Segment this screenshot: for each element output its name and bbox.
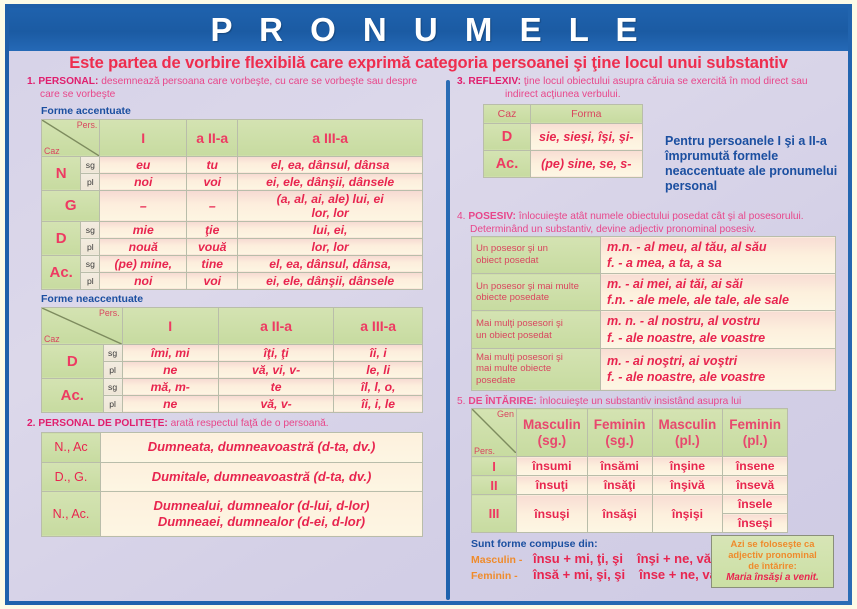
table-row: N., AcDumneata, dumneavoastră (d-ta, dv.…	[42, 433, 423, 462]
table-reflexiv: CazFormaDsie, sieşi, îşi, şi-Ac.(pe) sin…	[483, 104, 643, 178]
table-posesiv: Un posesor şi unobiect posedatm.n. - al …	[471, 236, 836, 391]
cell-0-pl-1: vă, vi, v-	[218, 361, 333, 378]
cell-3-sg-2: el, ea, dânsul, dânsa,	[238, 255, 423, 272]
intarire-pers-0: I	[472, 457, 517, 476]
reflexiv-header-forma: Forma	[531, 104, 643, 123]
number-label-pl: pl	[103, 395, 122, 412]
section-posesiv-desc: înlocuieşte atât numele obiectului posed…	[519, 211, 804, 222]
corner-label-caz: Caz	[44, 334, 60, 344]
intarire-cell-2-0: însuşi	[517, 495, 588, 533]
intarire-cell-0-3: însene	[723, 457, 788, 476]
section-politete-heading: 2. PERSONAL DE POLITEŢE: arată respectul…	[27, 418, 437, 431]
cell-1-sg-0: mă, m-	[122, 378, 218, 395]
case-label-cell: D	[42, 221, 81, 255]
person-header-3: a III-a	[238, 119, 423, 156]
number-label-sg: sg	[103, 378, 122, 395]
section-posesiv-desc2: Determinând un substantiv, devine adject…	[457, 223, 842, 236]
section-reflexiv-desc: ţine locul obiectului asupra căruia se e…	[524, 76, 808, 87]
note-line-2: adjectiv pronominal	[714, 549, 831, 560]
table-forme-accentuate: Pers.CazIa II-aa III-aNsgeutuel, ea, dân…	[41, 119, 423, 290]
person-header-3: a III-a	[334, 307, 423, 344]
page-title: P R O N U M E L E	[211, 13, 647, 46]
corner-label-pers: Pers.	[77, 120, 98, 130]
table-row: Ac.sg(pe) mine,tineel, ea, dânsul, dânsa…	[42, 255, 423, 272]
cell-1-pl-0: ne	[122, 395, 218, 412]
table-header-row: GenPers.Masculin(sg.)Feminin(sg.)Masculi…	[472, 409, 788, 457]
corner-label-pers: Pers.	[99, 308, 120, 318]
table-row: Dsie, sieşi, îşi, şi-	[484, 123, 643, 150]
poster-subtitle: Este partea de vorbire flexibilă care ex…	[9, 54, 848, 73]
cell-0-sg-2: îi, i	[334, 344, 423, 361]
section-reflexiv-desc2: indirect acţiunea verbului.	[457, 89, 842, 102]
intarire-cell-1-1: însăţi	[587, 476, 652, 495]
intarire-cell-1-2: înşivă	[652, 476, 723, 495]
table-intarire: GenPers.Masculin(sg.)Feminin(sg.)Masculi…	[471, 408, 788, 533]
forme-accentuate-label: Forme accentuate	[41, 105, 437, 117]
table-row: plnouăvouălor, lor	[42, 238, 423, 255]
intarire-cell-2-3b: înseşi	[723, 514, 788, 533]
cell-0-pl-1: voi	[187, 173, 238, 190]
case-label-cell: Ac.	[42, 255, 81, 289]
intarire-cell-0-1: însămi	[587, 457, 652, 476]
reflexiv-forma-0: sie, sieşi, îşi, şi-	[531, 123, 643, 150]
table-header-row: CazForma	[484, 104, 643, 123]
compose-block: Sunt forme compuse din: Masculin -însu +…	[471, 538, 842, 582]
person-header-1: I	[122, 307, 218, 344]
poster-body: P R O N U M E L E Este partea de vorbire…	[9, 8, 848, 601]
corner-label-gen: Gen	[497, 409, 514, 419]
table-row: IIînsuţiînsăţiînşivăînsevă	[472, 476, 788, 495]
cell-3-pl-0: noi	[100, 272, 187, 289]
cell-0-sg-0: îmi, mi	[122, 344, 218, 361]
poster-title-bar: P R O N U M E L E	[9, 8, 848, 51]
posesiv-forms-0: m.n. - al meu, al tău, al săuf. - a mea,…	[601, 237, 836, 274]
section-reflexiv-name: REFLEXIV:	[468, 76, 521, 87]
forme-neaccentuate-label: Forme neaccentuate	[41, 293, 437, 305]
number-label-pl: pl	[103, 361, 122, 378]
number-label-sg: sg	[81, 221, 100, 238]
corner-header-cell: GenPers.	[472, 409, 517, 457]
number-label-sg: sg	[81, 255, 100, 272]
table-row: Ac.sgmă, m-teîl, l, o,	[42, 378, 423, 395]
polite-case-1: D., G.	[42, 462, 101, 491]
corner-label-pers: Pers.	[474, 446, 495, 456]
section-intarire-name: DE ÎNTĂRIRE:	[468, 396, 536, 407]
section-posesiv-name: POSESIV:	[468, 211, 516, 222]
compose-forms-0: însu + mi, ţi, şiînşi + ne, vă, şi	[533, 551, 729, 566]
cell-2-sg-0: mie	[100, 221, 187, 238]
intarire-pers-2: III	[472, 495, 517, 533]
posesiv-forms-2: m. n. - al nostru, al vostruf. - ale noa…	[601, 311, 836, 348]
section-posesiv-heading: 4. POSESIV: înlocuieşte atât numele obie…	[457, 210, 842, 237]
note-example: Maria însăşi a venit.	[714, 572, 831, 584]
section-politete-desc: arată respectul faţă de o persoană.	[171, 418, 329, 429]
table-forme-neaccentuate: Pers.CazIa II-aa III-aDsgîmi, miîţi, ţiî…	[41, 307, 423, 413]
corner-header-cell: Pers.Caz	[42, 119, 100, 156]
number-label-sg: sg	[81, 156, 100, 173]
note-line-1: Azi se foloseşte ca	[714, 538, 831, 549]
table-header-row: Pers.CazIa II-aa III-a	[42, 307, 423, 344]
reflexiv-header-caz: Caz	[484, 104, 531, 123]
reflexiv-case-1: Ac.	[484, 150, 531, 177]
cell-1-pl-2: îi, i, le	[334, 395, 423, 412]
intarire-pers-1: II	[472, 476, 517, 495]
posesiv-label-3: Mai mulţi posesori şimai multe obiectepo…	[472, 348, 601, 390]
table-row: Un posesor şi mai multeobiecte posedatem…	[472, 274, 836, 311]
intarire-cell-1-0: însuţi	[517, 476, 588, 495]
table-row: Ac.(pe) sine, se, s-	[484, 150, 643, 177]
case-label-cell: D	[42, 344, 104, 378]
section-personal-number: 1.	[27, 76, 36, 87]
table-row: Un posesor şi unobiect posedatm.n. - al …	[472, 237, 836, 274]
reflexiv-note: Pentru persoanele I şi a II-a împrumută …	[665, 134, 845, 194]
cell-0-pl-2: ei, ele, dânşii, dânsele	[238, 173, 423, 190]
section-reflexiv-number: 3.	[457, 76, 466, 87]
table-row: Mai mulţi posesori şimai multe obiectepo…	[472, 348, 836, 390]
section-politete-number: 2.	[27, 418, 36, 429]
posesiv-forms-3: m. - ai noştri, ai voştrif. - ale noastr…	[601, 348, 836, 390]
cell-3-pl-2: ei, ele, dânşii, dânsele	[238, 272, 423, 289]
cell-0-sg-1: tu	[187, 156, 238, 173]
table-politete: N., AcDumneata, dumneavoastră (d-ta, dv.…	[41, 432, 423, 537]
table-row: N., Ac.Dumnealui, dumnealor (d-lui, d-lo…	[42, 491, 423, 537]
table-header-row: Pers.CazIa II-aa III-a	[42, 119, 423, 156]
intarire-header-2: Masculin(pl.)	[652, 409, 723, 457]
right-column: 3. REFLEXIV: ţine locul obiectului asupr…	[457, 76, 842, 582]
section-posesiv-number: 4.	[457, 211, 466, 222]
polite-forms-1: Dumitale, dumneavoastră (d-ta, dv.)	[101, 462, 423, 491]
intarire-header-3: Feminin(pl.)	[723, 409, 788, 457]
corner-label-caz: Caz	[44, 146, 60, 156]
reflexiv-block: CazFormaDsie, sieşi, îşi, şi-Ac.(pe) sin…	[457, 104, 842, 208]
cell-3-sg-1: tine	[187, 255, 238, 272]
cell-0-pl-0: noi	[100, 173, 187, 190]
cell-0-sg-1: îţi, ţi	[218, 344, 333, 361]
table-row: Mai mulţi posesori şiun obiect posedatm.…	[472, 311, 836, 348]
section-politete-name: PERSONAL DE POLITEŢE:	[38, 418, 167, 429]
polite-forms-0: Dumneata, dumneavoastră (d-ta, dv.)	[101, 433, 423, 462]
section-personal-name: PERSONAL:	[38, 76, 98, 87]
posesiv-label-1: Un posesor şi mai multeobiecte posedate	[472, 274, 601, 311]
number-label-pl: pl	[81, 238, 100, 255]
cell-1-sg-1: te	[218, 378, 333, 395]
case-label-cell: N	[42, 156, 81, 190]
note-line-3: de întărire:	[714, 560, 831, 571]
cell-0-sg-0: eu	[100, 156, 187, 173]
cell-1-0: –	[100, 190, 187, 221]
intarire-cell-0-2: înşine	[652, 457, 723, 476]
poster-frame: P R O N U M E L E Este partea de vorbire…	[5, 4, 852, 605]
intarire-cell-2-1: însăşi	[587, 495, 652, 533]
reflexiv-forma-1: (pe) sine, se, s-	[531, 150, 643, 177]
compose-gender-1: Feminin -	[471, 570, 533, 582]
intarire-header-1: Feminin(sg.)	[587, 409, 652, 457]
person-header-2: a II-a	[187, 119, 238, 156]
section-personal-heading: 1. PERSONAL: desemnează persoana care vo…	[27, 76, 437, 102]
cell-2-pl-2: lor, lor	[238, 238, 423, 255]
cell-2-pl-1: vouă	[187, 238, 238, 255]
section-intarire-desc: înlocuieşte un substantiv insistând asup…	[540, 396, 742, 407]
table-row: Dsgîmi, miîţi, ţiîi, i	[42, 344, 423, 361]
table-row: IIIînsuşiînsăşiînşişiînsele	[472, 495, 788, 514]
compose-gender-0: Masculin -	[471, 554, 533, 566]
posesiv-label-2: Mai mulţi posesori şiun obiect posedat	[472, 311, 601, 348]
cell-0-pl-0: ne	[122, 361, 218, 378]
section-personal-desc2: care se vorbeşte	[27, 89, 437, 102]
cell-1-1: –	[187, 190, 238, 221]
cell-1-pl-1: vă, v-	[218, 395, 333, 412]
column-divider	[446, 80, 450, 600]
person-header-1: I	[100, 119, 187, 156]
cell-1-2: (a, al, ai, ale) lui, eilor, lor	[238, 190, 423, 221]
polite-forms-2: Dumnealui, dumnealor (d-lui, d-lor)Dumne…	[101, 491, 423, 537]
table-row: G––(a, al, ai, ale) lui, eilor, lor	[42, 190, 423, 221]
intarire-cell-2-3a: însele	[723, 495, 788, 514]
table-row: Nsgeutuel, ea, dânsul, dânsa	[42, 156, 423, 173]
intarire-note-box: Azi se foloseşte ca adjectiv pronominal …	[711, 535, 834, 588]
person-header-2: a II-a	[218, 307, 333, 344]
corner-header-cell: Pers.Caz	[42, 307, 123, 344]
table-row: Iînsumiînsămiînşineînsene	[472, 457, 788, 476]
intarire-header-0: Masculin(sg.)	[517, 409, 588, 457]
cell-3-pl-1: voi	[187, 272, 238, 289]
case-label-cell: Ac.	[42, 378, 104, 412]
cell-2-sg-1: ţie	[187, 221, 238, 238]
table-row: D., G.Dumitale, dumneavoastră (d-ta, dv.…	[42, 462, 423, 491]
cell-2-pl-0: nouă	[100, 238, 187, 255]
table-row: plnoivoiei, ele, dânşii, dânsele	[42, 173, 423, 190]
polite-case-2: N., Ac.	[42, 491, 101, 537]
intarire-cell-0-0: însumi	[517, 457, 588, 476]
left-column: 1. PERSONAL: desemnează persoana care vo…	[27, 76, 437, 537]
posesiv-label-0: Un posesor şi unobiect posedat	[472, 237, 601, 274]
reflexiv-case-0: D	[484, 123, 531, 150]
intarire-cell-2-2: înşişi	[652, 495, 723, 533]
polite-case-0: N., Ac	[42, 433, 101, 462]
cell-2-sg-2: lui, ei,	[238, 221, 423, 238]
number-label-sg: sg	[103, 344, 122, 361]
case-label-cell: G	[42, 190, 100, 221]
cell-0-sg-2: el, ea, dânsul, dânsa	[238, 156, 423, 173]
section-reflexiv-heading: 3. REFLEXIV: ţine locul obiectului asupr…	[457, 76, 842, 102]
number-label-pl: pl	[81, 272, 100, 289]
intarire-cell-1-3: însevă	[723, 476, 788, 495]
cell-1-sg-2: îl, l, o,	[334, 378, 423, 395]
table-row: Dsgmieţielui, ei,	[42, 221, 423, 238]
section-intarire-number: 5.	[457, 396, 466, 407]
table-row: plnoivoiei, ele, dânşii, dânsele	[42, 272, 423, 289]
posesiv-forms-1: m. - ai mei, ai tăi, ai săif.n. - ale me…	[601, 274, 836, 311]
cell-0-pl-2: le, li	[334, 361, 423, 378]
section-personal-desc: desemnează persoana care vorbeşte, cu ca…	[101, 76, 417, 87]
cell-3-sg-0: (pe) mine,	[100, 255, 187, 272]
number-label-pl: pl	[81, 173, 100, 190]
section-intarire-heading: 5. DE ÎNTĂRIRE: înlocuieşte un substanti…	[457, 395, 842, 408]
